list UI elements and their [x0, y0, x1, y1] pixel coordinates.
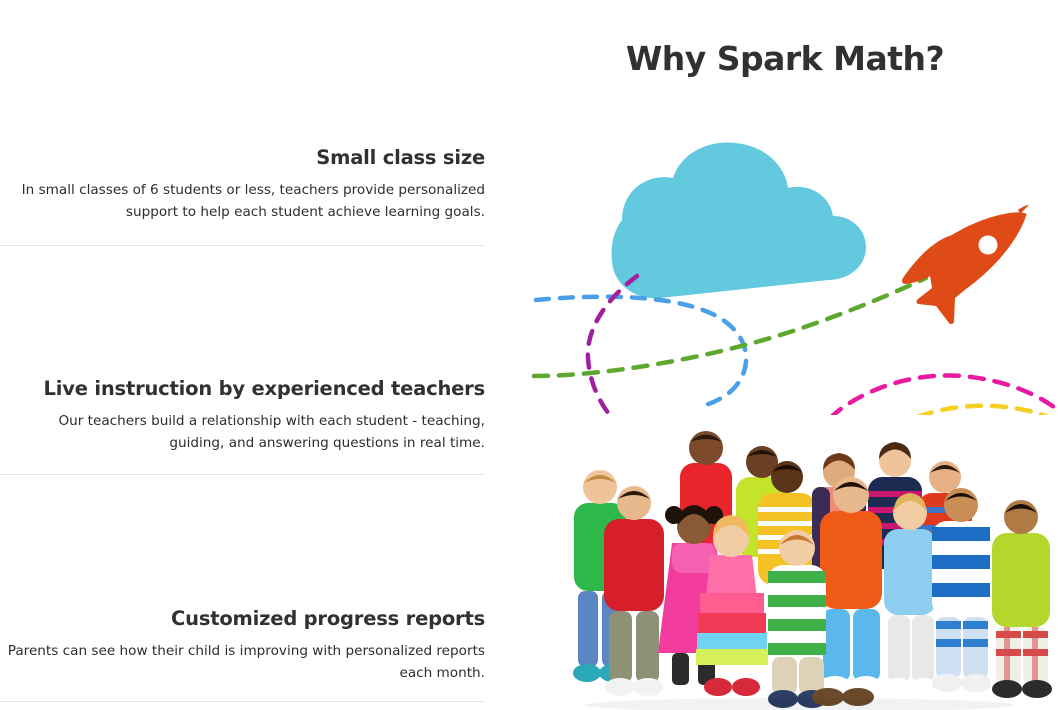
feature-block-progress-reports: Customized progress reports Parents can …	[0, 607, 485, 684]
feature-title: Small class size	[0, 146, 485, 170]
feature-divider	[0, 245, 485, 246]
group-of-children-photo	[540, 415, 1058, 710]
feature-block-small-class-size: Small class size In small classes of 6 s…	[0, 146, 485, 223]
cloud-icon	[611, 142, 866, 298]
why-spark-math-page: Small class size In small classes of 6 s…	[0, 0, 1058, 710]
rocket-porthole-icon	[979, 236, 998, 255]
feature-description: In small classes of 6 students or less, …	[0, 180, 485, 223]
feature-block-live-instruction: Live instruction by experienced teachers…	[0, 377, 485, 454]
feature-description: Our teachers build a relationship with e…	[0, 411, 485, 454]
page-title: Why Spark Math?	[530, 38, 1040, 80]
feature-divider	[0, 474, 485, 475]
feature-title: Live instruction by experienced teachers	[0, 377, 485, 401]
feature-divider	[0, 701, 485, 702]
hero-column: Why Spark Math?	[530, 0, 1058, 710]
features-column: Small class size In small classes of 6 s…	[0, 0, 485, 710]
cloud-rocket-illustration	[530, 128, 1058, 428]
feature-description: Parents can see how their child is impro…	[0, 641, 485, 684]
feature-title: Customized progress reports	[0, 607, 485, 631]
rocket-icon	[902, 205, 1029, 324]
